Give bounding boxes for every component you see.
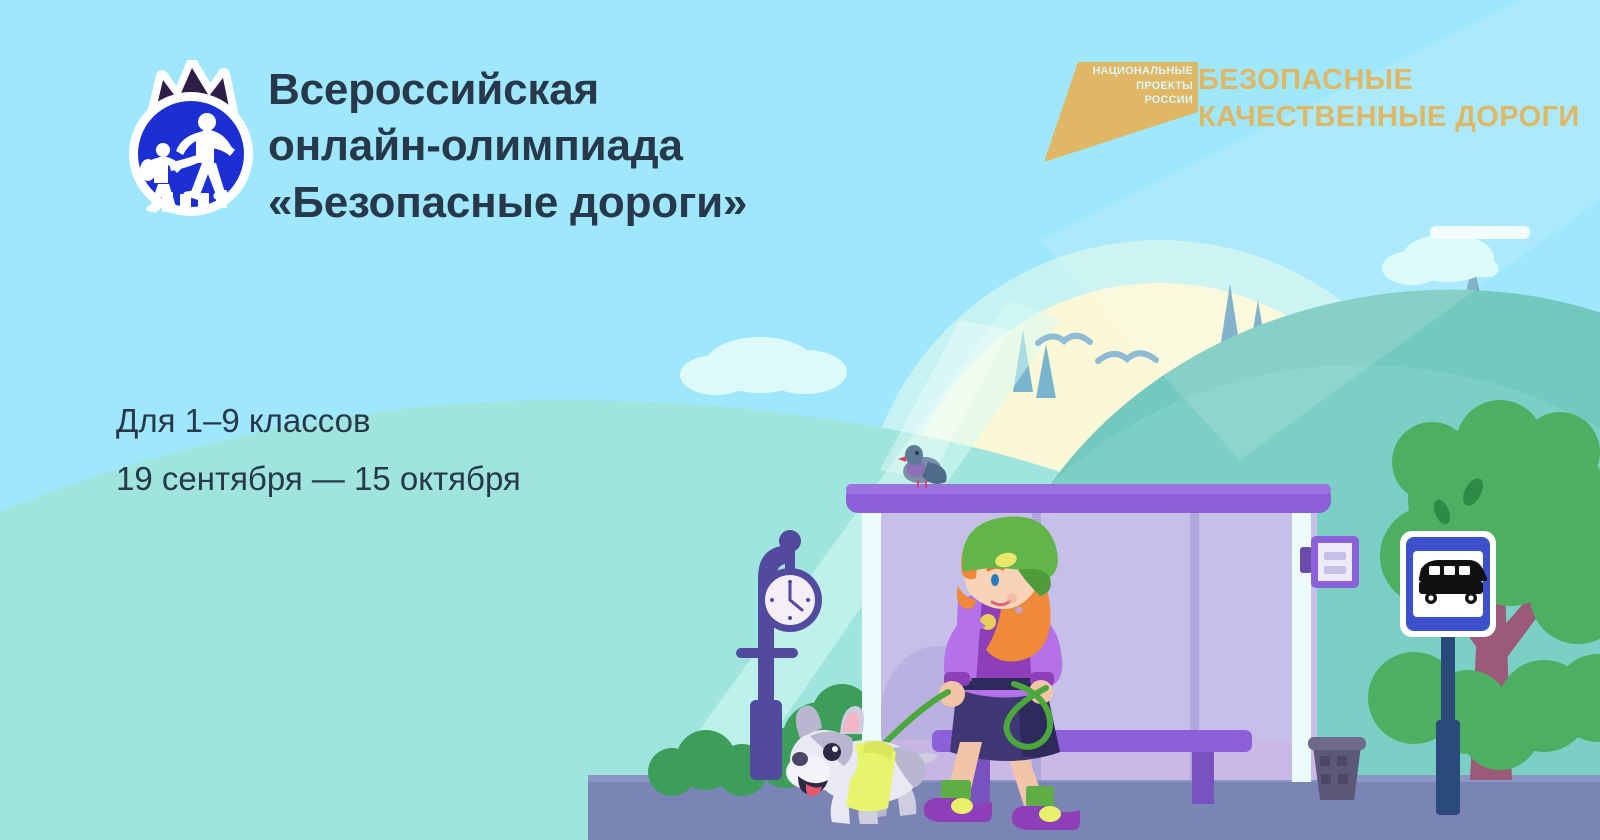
program-name: БЕЗОПАСНЫЕ КАЧЕСТВЕННЫЕ ДОРОГИ bbox=[1198, 62, 1580, 136]
np-line-2: ПРОЕКТЫ bbox=[1085, 79, 1193, 94]
page-title: Всероссийская онлайн-олимпиада «Безопасн… bbox=[268, 62, 908, 231]
olympiad-banner: Всероссийская онлайн-олимпиада «Безопасн… bbox=[0, 0, 1600, 840]
shelter-post-right bbox=[1292, 500, 1311, 782]
program-line-1: БЕЗОПАСНЫЕ bbox=[1198, 62, 1580, 99]
headline-line-1: Всероссийская bbox=[268, 62, 908, 118]
grades-text: Для 1–9 классов bbox=[116, 392, 521, 450]
shelter-post-left bbox=[862, 500, 881, 782]
girl-eye bbox=[991, 574, 999, 586]
headline-line-3: «Безопасные дороги» bbox=[268, 175, 908, 231]
olympiad-logo bbox=[118, 60, 264, 220]
sock-back bbox=[1026, 786, 1054, 806]
program-line-2: КАЧЕСТВЕННЫЕ ДОРОГИ bbox=[1198, 99, 1580, 136]
headline-line-2: онлайн-олимпиада bbox=[268, 118, 908, 174]
np-line-3: РОССИИ bbox=[1085, 93, 1193, 108]
event-details: Для 1–9 классов 19 сентября — 15 октября bbox=[116, 392, 521, 508]
dog-nose bbox=[792, 752, 808, 766]
cloud-top bbox=[1430, 226, 1530, 239]
np-line-1: НАЦИОНАЛЬНЫЕ bbox=[1085, 64, 1193, 79]
dates-text: 19 сентября — 15 октября bbox=[116, 450, 521, 508]
sock-front bbox=[941, 780, 971, 800]
dog-eye bbox=[823, 743, 841, 761]
np-text-block: НАЦИОНАЛЬНЫЕ ПРОЕКТЫ РОССИИ bbox=[1085, 64, 1193, 108]
bus-windows bbox=[1429, 566, 1470, 575]
